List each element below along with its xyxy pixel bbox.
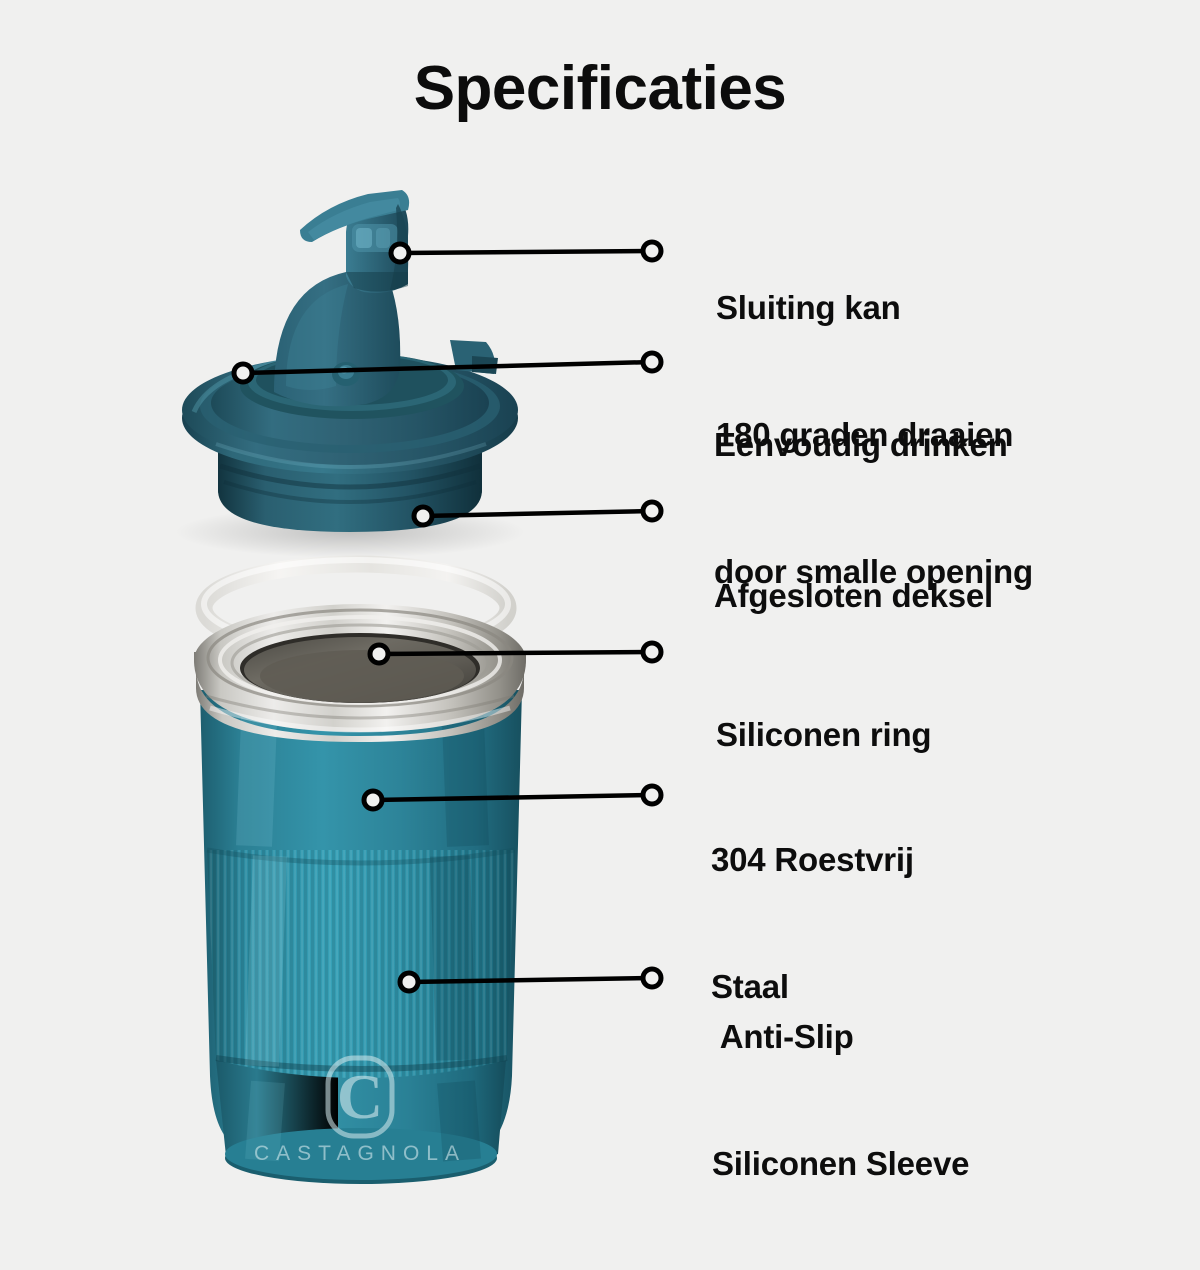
callout-line: 304 Roestvrij — [711, 839, 914, 881]
brand-logo: C — [328, 1058, 392, 1136]
product-illustration: C CASTAGNOLA — [150, 160, 610, 1190]
callout-line: Siliconen ring — [716, 714, 931, 756]
callout-line: Anti-Slip — [712, 1016, 969, 1058]
specifications-infographic: Specificaties — [0, 0, 1200, 1200]
svg-text:C: C — [337, 1061, 383, 1132]
callout-line: Sluiting kan — [716, 287, 1013, 329]
cup-body: C CASTAGNOLA — [200, 690, 522, 1184]
svg-text:CASTAGNOLA: CASTAGNOLA — [254, 1142, 466, 1165]
callout-line: Afgesloten deksel — [714, 575, 993, 617]
callout-line: Siliconen Sleeve — [712, 1143, 969, 1185]
lid-assembly — [175, 190, 525, 558]
callout-line: Eenvoudig drinken — [714, 424, 1033, 466]
callout-label-anti-slip-sleeve: Anti-Slip Siliconen Sleeve — [712, 932, 969, 1270]
page-title: Specificaties — [0, 58, 1200, 120]
